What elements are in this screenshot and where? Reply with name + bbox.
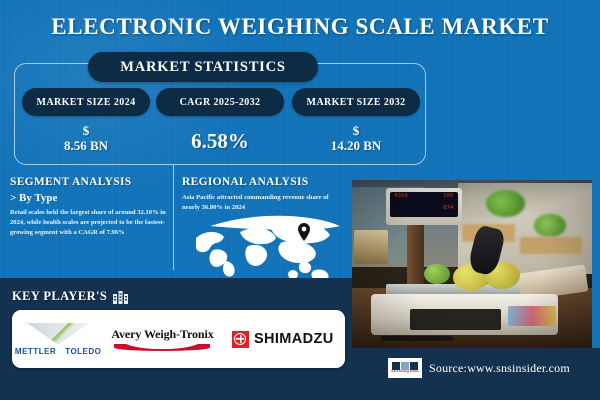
- stat-label: MARKET SIZE 2024: [22, 88, 150, 116]
- logo-block-3: [410, 362, 418, 370]
- source-label: Source:: [429, 361, 467, 375]
- stat-cagr: CAGR 2025-2032 6.58%: [156, 88, 284, 153]
- stat-currency: $: [292, 124, 420, 139]
- shimadzu-mark-icon: [232, 331, 249, 348]
- column-divider: [173, 165, 174, 270]
- mettler-toledo-mark-icon: [26, 323, 90, 345]
- logo-mettler-toledo: METTLER TOLEDO: [15, 323, 101, 356]
- regional-analysis-body: Asia Pacific attracted commanding revenu…: [182, 193, 344, 213]
- shimadzu-wordmark: SHIMADZU: [254, 331, 334, 347]
- segment-analysis-heading: SEGMENT ANALYSIS: [10, 176, 170, 188]
- source-url: www.snsinsider.com: [467, 361, 570, 375]
- building-icon: [113, 290, 128, 304]
- stat-value: $ 14.20 BN: [292, 124, 420, 154]
- stat-label: MARKET SIZE 2032: [292, 88, 420, 116]
- stat-label: CAGR 2025-2032: [156, 88, 284, 116]
- key-players-heading-row: KEY PLAYER'S: [12, 289, 128, 304]
- stat-currency: $: [22, 124, 150, 139]
- segment-analysis-subheading: > By Type: [10, 192, 170, 204]
- logo-blocks: [392, 362, 418, 370]
- source-attribution: S & S Strategy & Stats Source:www.snsins…: [388, 358, 570, 378]
- infographic-canvas: ELECTRONIC WEIGHING SCALE MARKET MARKET …: [0, 0, 600, 400]
- product-photo: 0368 200 874: [352, 180, 592, 348]
- logo-block-2: [401, 362, 409, 370]
- key-players-heading: KEY PLAYER'S: [12, 289, 107, 304]
- mettler-word: METTLER: [15, 347, 56, 356]
- sns-insider-logo-icon: S & S Strategy & Stats: [388, 358, 422, 378]
- logo-caption: S & S Strategy & Stats: [391, 371, 419, 374]
- page-title: ELECTRONIC WEIGHING SCALE MARKET: [0, 14, 600, 40]
- source-text: Source:www.snsinsider.com: [429, 361, 570, 376]
- logo-avery-weigh-tronix: Avery Weigh-Tronix: [107, 327, 217, 351]
- avery-wordmark: Avery Weigh-Tronix: [111, 327, 213, 342]
- stat-market-size-2032: MARKET SIZE 2032 $ 14.20 BN: [292, 88, 420, 154]
- regional-analysis-section: REGIONAL ANALYSIS Asia Pacific attracted…: [182, 176, 344, 213]
- photo-vignette: [352, 180, 592, 348]
- regional-analysis-heading: REGIONAL ANALYSIS: [182, 176, 344, 188]
- stat-value: 6.58%: [156, 129, 284, 153]
- key-players-logo-band: METTLER TOLEDO Avery Weigh-Tronix SHIMAD…: [12, 310, 345, 368]
- stat-number: 6.58%: [191, 129, 249, 153]
- stat-value: $ 8.56 BN: [22, 124, 150, 154]
- segment-analysis-body: Retail scales held the largest share of …: [10, 208, 170, 239]
- toledo-word: TOLEDO: [65, 347, 101, 356]
- stat-market-size-2024: MARKET SIZE 2024 $ 8.56 BN: [22, 88, 150, 154]
- logo-shimadzu: SHIMADZU: [224, 331, 342, 348]
- mettler-toledo-wordmark: METTLER TOLEDO: [15, 347, 101, 356]
- stat-number: 14.20 BN: [331, 138, 382, 153]
- avery-swoosh-icon: [114, 344, 210, 351]
- segment-analysis-section: SEGMENT ANALYSIS > By Type Retail scales…: [10, 176, 170, 239]
- stat-number: 8.56 BN: [64, 138, 108, 153]
- market-statistics-label: MARKET STATISTICS: [88, 52, 318, 82]
- logo-block-1: [392, 362, 400, 370]
